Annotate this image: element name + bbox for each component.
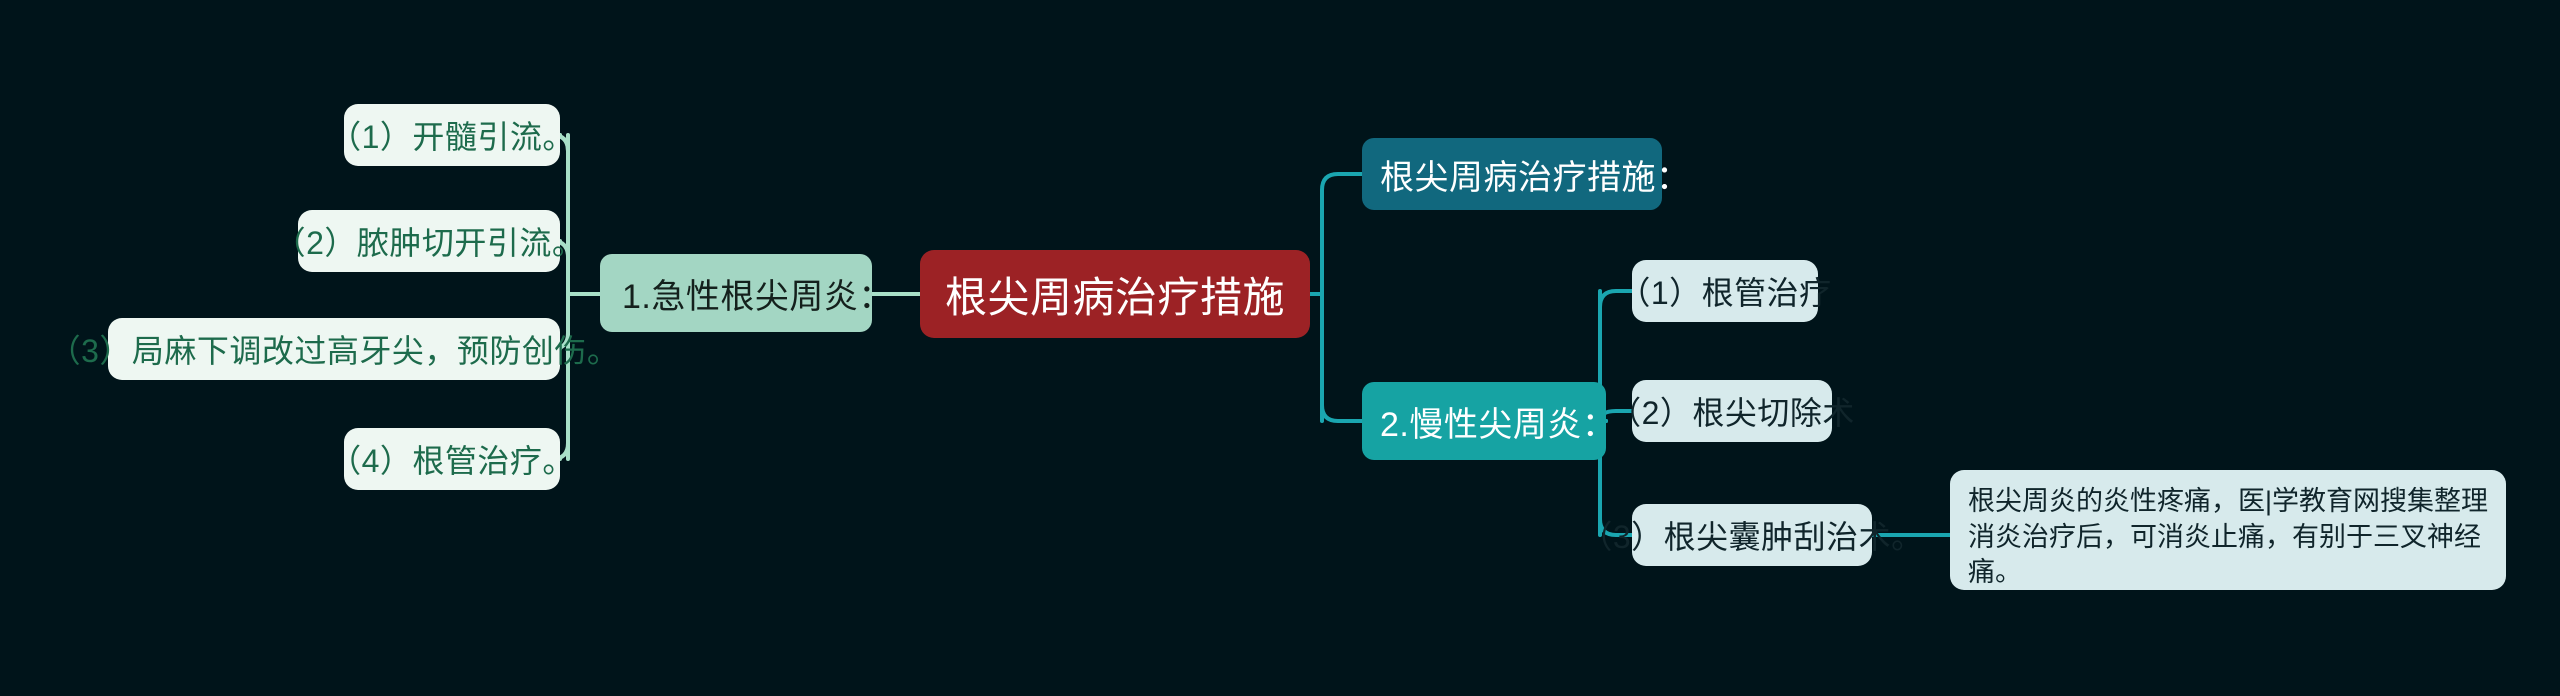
leaf-node-left-2[interactable]: （2）脓肿切开引流。	[298, 210, 560, 272]
branch-node-chronic-periapicitis[interactable]: 2.慢性尖周炎：	[1362, 382, 1606, 460]
leaf-node-left-4[interactable]: （4）根管治疗。	[344, 428, 560, 490]
note-node-inflammatory-pain[interactable]: 根尖周炎的炎性疼痛，医|学教育网搜集整理消炎治疗后，可消炎止痛，有别于三叉神经痛…	[1950, 470, 2506, 590]
leaf-node-left-3[interactable]: （3）局麻下调改过高牙尖，预防创伤。	[108, 318, 560, 380]
root-node[interactable]: 根尖周病治疗措施	[920, 250, 1310, 338]
leaf-node-left-1[interactable]: （1）开髓引流。	[344, 104, 560, 166]
connector-to-title	[1322, 174, 1362, 190]
leaf-node-right-2[interactable]: （2）根尖切除术	[1632, 380, 1832, 442]
branch-node-acute-periapicitis[interactable]: 1.急性根尖周炎：	[600, 254, 872, 332]
connector-to-chronic	[1322, 405, 1362, 421]
branch-node-treatment-measures-title[interactable]: 根尖周病治疗措施：	[1362, 138, 1662, 210]
leaf-node-right-1[interactable]: （1）根管治疗	[1632, 260, 1818, 322]
leaf-node-right-3[interactable]: （3）根尖囊肿刮治术。	[1632, 504, 1872, 566]
mindmap-canvas: 根尖周病治疗措施 1.急性根尖周炎： （1）开髓引流。 （2）脓肿切开引流。 （…	[0, 0, 2560, 696]
